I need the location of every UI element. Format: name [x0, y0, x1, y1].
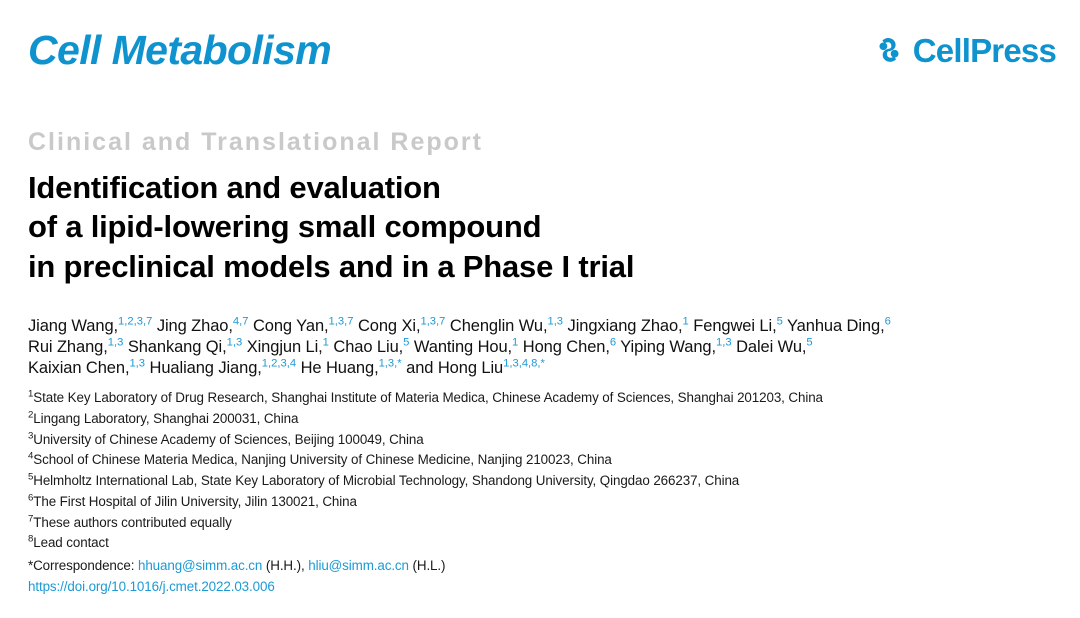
cellpress-interlocking-loops-icon	[874, 35, 904, 65]
author-name[interactable]: Yanhua Ding,6	[787, 317, 891, 335]
affiliation-item: 4School of Chinese Materia Medica, Nanji…	[28, 450, 1060, 471]
author-affiliation-marker: 1,3	[716, 336, 732, 348]
author-name[interactable]: Chao Liu,5	[333, 338, 409, 356]
author-name[interactable]: Hong Chen,6	[523, 338, 616, 356]
author-name[interactable]: Yiping Wang,1,3	[620, 338, 731, 356]
cellpress-wordmark: CellPress	[913, 34, 1056, 67]
author-line: Kaixian Chen,1,3 Hualiang Jiang,1,2,3,4 …	[28, 358, 1060, 379]
affiliation-text: State Key Laboratory of Drug Research, S…	[33, 390, 823, 405]
author-name[interactable]: Rui Zhang,1,3	[28, 338, 123, 356]
article-type-label: Clinical and Translational Report	[28, 128, 1060, 157]
author-name[interactable]: Wanting Hou,1	[414, 338, 518, 356]
correspondence-initials: (H.L.)	[409, 558, 446, 573]
affiliation-text: Lead contact	[33, 535, 108, 550]
correspondence-initials: (H.H.),	[262, 558, 308, 573]
affiliation-text: The First Hospital of Jilin University, …	[33, 494, 357, 509]
affiliation-text: These authors contributed equally	[33, 515, 231, 530]
correspondence-label: *Correspondence:	[28, 558, 138, 573]
cellpress-logo[interactable]: CellPress	[874, 34, 1056, 67]
author-affiliation-marker: 1,3	[129, 357, 145, 369]
author-affiliation-marker: 1,2,3,7	[118, 315, 152, 327]
affiliation-text: Lingang Laboratory, Shanghai 200031, Chi…	[33, 411, 298, 426]
author-affiliation-marker: 5	[777, 315, 783, 327]
affiliation-item: 7These authors contributed equally	[28, 513, 1060, 534]
author-list: Jiang Wang,1,2,3,7 Jing Zhao,4,7 Cong Ya…	[28, 316, 1060, 379]
author-name[interactable]: Shankang Qi,1,3	[128, 338, 242, 356]
affiliation-item: 6The First Hospital of Jilin University,…	[28, 492, 1060, 513]
page-title: Identification and evaluation of a lipid…	[28, 168, 1060, 287]
affiliation-item: 1State Key Laboratory of Drug Research, …	[28, 388, 1060, 409]
author-name[interactable]: Xingjun Li,1	[247, 338, 329, 356]
title-line-1: Identification and evaluation	[28, 168, 1060, 208]
author-line: Rui Zhang,1,3 Shankang Qi,1,3 Xingjun Li…	[28, 337, 1060, 358]
author-affiliation-marker: 1,3,*	[379, 357, 402, 369]
author-name[interactable]: and Hong Liu1,3,4,8,*	[406, 359, 545, 377]
author-affiliation-marker: 1,3,4,8,*	[503, 357, 545, 369]
affiliation-item: 5Helmholtz International Lab, State Key …	[28, 471, 1060, 492]
author-affiliation-marker: 1,3	[547, 315, 563, 327]
author-name[interactable]: Cong Yan,1,3,7	[253, 317, 354, 335]
author-affiliation-marker: 1	[323, 336, 329, 348]
author-affiliation-marker: 1,3,7	[329, 315, 354, 327]
author-name[interactable]: Jing Zhao,4,7	[157, 317, 249, 335]
author-affiliation-marker: 1	[512, 336, 518, 348]
doi-line: https://doi.org/10.1016/j.cmet.2022.03.0…	[28, 577, 1060, 598]
doi-link[interactable]: https://doi.org/10.1016/j.cmet.2022.03.0…	[28, 579, 275, 594]
author-affiliation-marker: 5	[806, 336, 812, 348]
article-header-page: Cell Metabolism CellPress Clinical and T…	[0, 0, 1080, 618]
author-name[interactable]: Kaixian Chen,1,3	[28, 359, 145, 377]
author-name[interactable]: Jingxiang Zhao,1	[568, 317, 689, 335]
author-affiliation-marker: 1	[683, 315, 689, 327]
masthead: Cell Metabolism CellPress	[0, 0, 1080, 96]
author-affiliation-marker: 5	[403, 336, 409, 348]
author-affiliation-marker: 4,7	[233, 315, 249, 327]
title-line-3: in preclinical models and in a Phase I t…	[28, 247, 1060, 287]
title-line-2: of a lipid-lowering small compound	[28, 207, 1060, 247]
author-affiliation-marker: 1,2,3,4	[262, 357, 296, 369]
correspondence-email-link[interactable]: hhuang@simm.ac.cn	[138, 558, 262, 573]
affiliation-item: 2Lingang Laboratory, Shanghai 200031, Ch…	[28, 409, 1060, 430]
author-affiliation-marker: 1,3	[227, 336, 243, 348]
affiliation-text: Helmholtz International Lab, State Key L…	[33, 473, 739, 488]
affiliation-text: University of Chinese Academy of Science…	[33, 432, 423, 447]
affiliation-item: 3University of Chinese Academy of Scienc…	[28, 430, 1060, 451]
author-name[interactable]: Hualiang Jiang,1,2,3,4	[150, 359, 297, 377]
author-line: Jiang Wang,1,2,3,7 Jing Zhao,4,7 Cong Ya…	[28, 316, 1060, 337]
journal-title: Cell Metabolism	[28, 30, 331, 71]
author-name[interactable]: Jiang Wang,1,2,3,7	[28, 317, 152, 335]
affiliation-text: School of Chinese Materia Medica, Nanjin…	[33, 452, 612, 467]
author-affiliation-marker: 1,3,7	[420, 315, 445, 327]
author-affiliation-marker: 1,3	[108, 336, 124, 348]
affiliation-item: 8Lead contact	[28, 533, 1060, 554]
affiliation-list: 1State Key Laboratory of Drug Research, …	[28, 388, 1060, 598]
author-name[interactable]: Dalei Wu,5	[736, 338, 813, 356]
correspondence-email-link[interactable]: hliu@simm.ac.cn	[308, 558, 409, 573]
author-affiliation-marker: 6	[885, 315, 891, 327]
author-name[interactable]: Chenglin Wu,1,3	[450, 317, 563, 335]
author-name[interactable]: He Huang,1,3,*	[301, 359, 402, 377]
correspondence-line: *Correspondence: hhuang@simm.ac.cn (H.H.…	[28, 556, 1060, 577]
author-affiliation-marker: 6	[610, 336, 616, 348]
article-header: Clinical and Translational Report Identi…	[28, 128, 1060, 598]
author-name[interactable]: Fengwei Li,5	[693, 317, 783, 335]
author-name[interactable]: Cong Xi,1,3,7	[358, 317, 445, 335]
